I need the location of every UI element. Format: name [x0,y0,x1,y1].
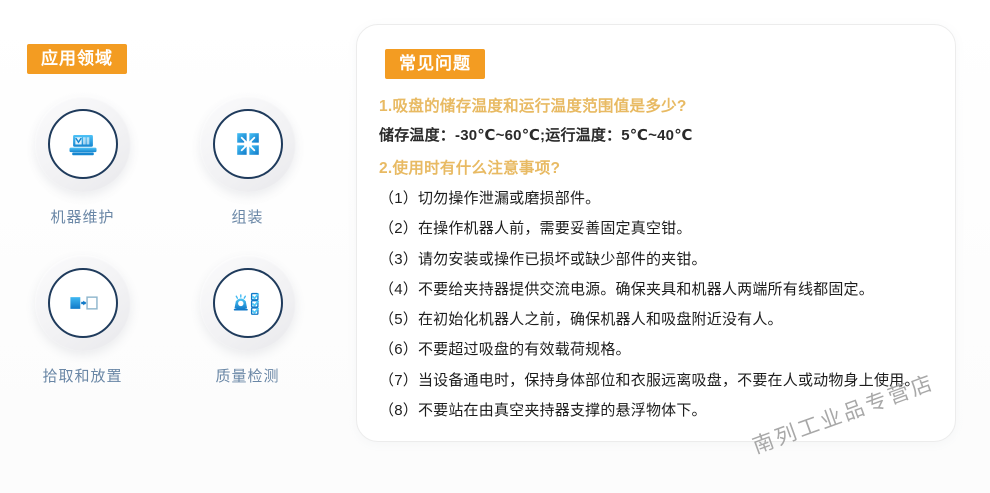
list-item-text: 在操作机器人前，需要妥善固定真空钳。 [418,220,692,237]
icon-circle-outer [200,255,296,351]
faq-answer-1: 储存温度：-30℃~60℃;运行温度：5℃~40℃ [379,125,941,148]
icon-circle-ring [48,109,118,179]
application-areas-badge: 应用领域 [27,44,127,74]
list-item-number: （2） [379,217,418,241]
list-item-text: 在初始化机器人之前，确保机器人和吸盘附近没有人。 [418,311,783,328]
icon-circle-outer [35,255,131,351]
icon-circle-outer [35,96,131,192]
list-item: （6）不要超过吸盘的有效载荷规格。 [379,338,941,362]
icon-circle-ring [48,268,118,338]
application-item-pick-and-place[interactable]: 拾取和放置 [0,255,165,386]
icon-circle-ring [213,109,283,179]
icon-circle-ring [213,268,283,338]
list-item-number: （3） [379,248,418,272]
application-item-label: 拾取和放置 [42,365,122,386]
list-item-number: （5） [379,308,418,332]
pick-and-place-icon [65,285,101,321]
application-areas-grid: 机器维护 [0,96,340,414]
list-item-text: 不要超过吸盘的有效载荷规格。 [418,341,631,358]
list-item-text: 切勿操作泄漏或磨损部件。 [418,190,600,207]
list-item-text: 请勿安装或操作已损坏或缺少部件的夹钳。 [418,251,707,268]
application-item-label: 组装 [231,206,263,227]
list-item: （4）不要给夹持器提供交流电源。确保夹具和机器人两端所有线都固定。 [379,278,941,302]
list-item: （7）当设备通电时，保持身体部位和衣服远离吸盘，不要在人或动物身上使用。 [379,369,941,393]
faq-question-1: 1.吸盘的储存温度和运行温度范围值是多少? [379,95,941,118]
application-item-label: 质量检测 [215,365,279,386]
list-item: （2）在操作机器人前，需要妥善固定真空钳。 [379,217,941,241]
application-item-assembly[interactable]: 组装 [165,96,330,227]
list-item: （5）在初始化机器人之前，确保机器人和吸盘附近没有人。 [379,308,941,332]
assembly-squares-icon [230,126,266,162]
list-item: （1）切勿操作泄漏或磨损部件。 [379,187,941,211]
application-areas-row-2: 拾取和放置 [0,255,340,386]
list-item-number: （4） [379,278,418,302]
application-item-quality-inspection[interactable]: 质量检测 [165,255,330,386]
faq-precautions-list: （1）切勿操作泄漏或磨损部件。 （2）在操作机器人前，需要妥善固定真空钳。 （3… [379,187,941,423]
faq-card: 常见问题 1.吸盘的储存温度和运行温度范围值是多少? 储存温度：-30℃~60℃… [356,24,956,442]
list-item-number: （1） [379,187,418,211]
list-item: （3）请勿安装或操作已损坏或缺少部件的夹钳。 [379,248,941,272]
faq-question-2: 2.使用时有什么注意事项? [379,157,941,180]
icon-circle-outer [200,96,296,192]
faq-badge: 常见问题 [385,49,485,79]
quality-inspection-icon [230,285,266,321]
page-root: 应用领域 [0,0,990,493]
application-areas-panel: 应用领域 [0,0,340,493]
list-item-text: 不要站在由真空夹持器支撑的悬浮物体下。 [418,402,707,419]
list-item-text: 当设备通电时，保持身体部位和衣服远离吸盘，不要在人或动物身上使用。 [418,372,920,389]
faq-content: 1.吸盘的储存温度和运行温度范围值是多少? 储存温度：-30℃~60℃;运行温度… [379,95,941,429]
list-item-number: （7） [379,369,418,393]
list-item-number: （6） [379,338,418,362]
application-item-machine-maintenance[interactable]: 机器维护 [0,96,165,227]
application-item-label: 机器维护 [50,206,114,227]
laptop-machine-icon [65,126,101,162]
list-item-text: 不要给夹持器提供交流电源。确保夹具和机器人两端所有线都固定。 [418,281,874,298]
application-areas-row-1: 机器维护 [0,96,340,227]
list-item-number: （8） [379,399,418,423]
